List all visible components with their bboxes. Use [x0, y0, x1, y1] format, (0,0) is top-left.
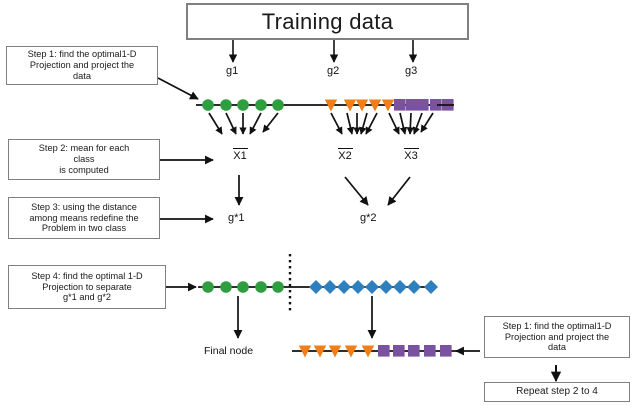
marker-circle: [220, 99, 232, 111]
gstar1-text: g*1: [228, 212, 245, 224]
step2-label: Step 2: mean for each class is computed: [39, 143, 129, 176]
fanout-arrows-g3: [389, 113, 433, 134]
gstar2-text: g*2: [360, 212, 377, 224]
overbar: [233, 148, 248, 149]
overbar: [404, 148, 419, 149]
marker-square: [394, 99, 406, 111]
marker-square: [440, 345, 452, 357]
training-data-label: Training data: [262, 9, 394, 35]
marker-circle: [272, 281, 284, 293]
repeat-box: Repeat step 2 to 4: [484, 382, 630, 402]
label-g3: g3: [405, 65, 417, 77]
marker-axes: [196, 105, 458, 351]
label-g2: g2: [327, 65, 339, 77]
marker-circle: [255, 281, 267, 293]
step4-box: Step 4: find the optimal 1-D Projection …: [8, 265, 166, 309]
label-mean-x2: X2: [334, 148, 356, 162]
step1-bottom-label: Step 1: find the optimal1-D Projection a…: [503, 321, 612, 354]
g3-text: g3: [405, 65, 417, 77]
x2-text: X2: [338, 150, 351, 162]
step1-top-box: Step 1: find the optimal1-D Projection a…: [6, 46, 158, 85]
row-two-class-markers: [202, 280, 438, 294]
marker-circle: [220, 281, 232, 293]
x1-text: X1: [233, 150, 246, 162]
step1-bottom-box: Step 1: find the optimal1-D Projection a…: [484, 316, 630, 358]
marker-diamond: [424, 280, 438, 294]
fanout-arrows-g1: [209, 113, 278, 134]
step3-box: Step 3: using the distance among means r…: [8, 197, 160, 239]
marker-diamond: [309, 280, 323, 294]
label-mean-x3: X3: [400, 148, 422, 162]
g1-text: g1: [226, 65, 238, 77]
arrow-step1-to-projection: [158, 78, 198, 99]
marker-diamond: [365, 280, 379, 294]
step4-label: Step 4: find the optimal 1-D Projection …: [31, 271, 142, 304]
fanout-arrows-g2: [331, 113, 377, 134]
label-mean-x1: X1: [229, 148, 251, 162]
label-g1: g1: [226, 65, 238, 77]
step1-top-label: Step 1: find the optimal1-D Projection a…: [28, 49, 137, 82]
training-data-box: Training data: [186, 3, 469, 40]
marker-circle: [202, 281, 214, 293]
marker-square: [417, 99, 429, 111]
marker-circle: [272, 99, 284, 111]
marker-diamond: [323, 280, 337, 294]
marker-circle: [237, 99, 249, 111]
step3-label: Step 3: using the distance among means r…: [29, 202, 138, 235]
diagram-canvas: Training data Step 1: find the optimal1-…: [0, 0, 640, 405]
x3-text: X3: [404, 150, 417, 162]
repeat-label: Repeat step 2 to 4: [516, 386, 598, 398]
label-gstar2: g*2: [360, 212, 377, 224]
marker-diamond: [393, 280, 407, 294]
marker-circle: [202, 99, 214, 111]
marker-diamond: [407, 280, 421, 294]
arrow-x3-to-gstar2: [388, 177, 410, 205]
marker-square: [408, 345, 420, 357]
marker-diamond: [351, 280, 365, 294]
marker-circle: [237, 281, 249, 293]
g2-text: g2: [327, 65, 339, 77]
label-final-node: Final node: [204, 345, 253, 357]
label-gstar1: g*1: [228, 212, 245, 224]
marker-square: [393, 345, 405, 357]
marker-square: [406, 99, 418, 111]
row-projection-1-markers: [202, 99, 454, 112]
final-squares: [378, 345, 452, 357]
marker-circle: [255, 99, 267, 111]
overbar: [338, 148, 353, 149]
marker-diamond: [379, 280, 393, 294]
arrow-x2-to-gstar2: [345, 177, 368, 205]
marker-diamond: [337, 280, 351, 294]
marker-square: [424, 345, 436, 357]
gstar2-diamonds: [309, 280, 438, 294]
step2-box: Step 2: mean for each class is computed: [8, 139, 160, 180]
final-node-text: Final node: [204, 345, 253, 357]
marker-square: [378, 345, 390, 357]
